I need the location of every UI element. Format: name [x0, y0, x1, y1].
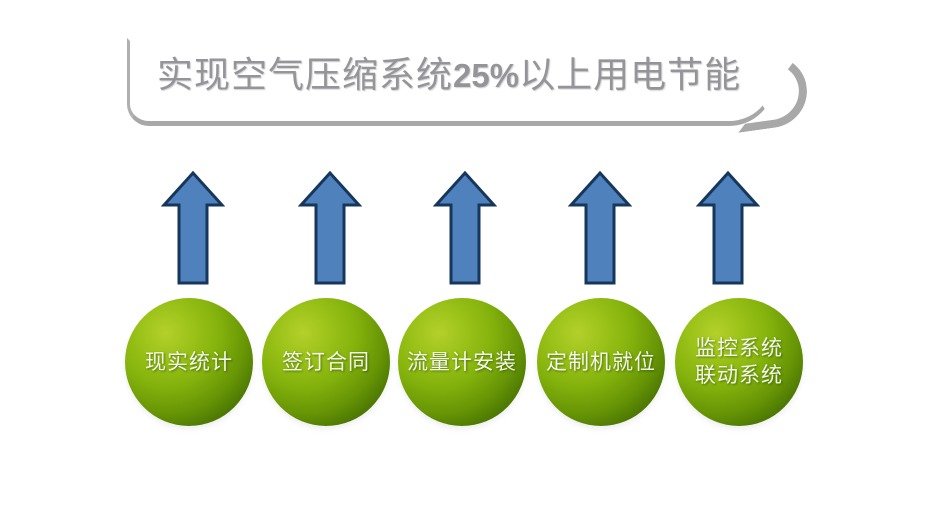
step-label-2: 签订合同: [278, 349, 374, 376]
title-text-after: 以上用电节能: [519, 55, 741, 95]
step-label-3: 流量计安装: [403, 349, 521, 376]
title-text-before: 实现空气压缩系统: [157, 55, 453, 95]
arrow-up-icon-4: [568, 170, 632, 286]
step-sphere-1[interactable]: 现实统计: [125, 298, 253, 426]
step-label-1: 现实统计: [141, 349, 237, 376]
step-sphere-3[interactable]: 流量计安装: [398, 298, 526, 426]
arrow-up-icon-5: [696, 170, 760, 286]
step-label-5: 监控系统 联动系统: [691, 335, 787, 389]
step-sphere-2[interactable]: 签订合同: [262, 298, 390, 426]
title-banner: 实现空气压缩系统25%以上用电节能: [127, 38, 775, 126]
arrow-up-icon-3: [433, 170, 497, 286]
step-label-4: 定制机就位: [542, 349, 660, 376]
arrow-up-icon-2: [298, 170, 362, 286]
title-percent: 25%: [453, 57, 519, 94]
page-title: 实现空气压缩系统25%以上用电节能: [157, 52, 741, 99]
slide-canvas: 实现空气压缩系统25%以上用电节能 现实统计 签订合同 流量计安装: [0, 0, 945, 529]
arrow-up-icon-1: [161, 170, 225, 286]
step-sphere-4[interactable]: 定制机就位: [537, 298, 665, 426]
step-sphere-5[interactable]: 监控系统 联动系统: [675, 298, 803, 426]
